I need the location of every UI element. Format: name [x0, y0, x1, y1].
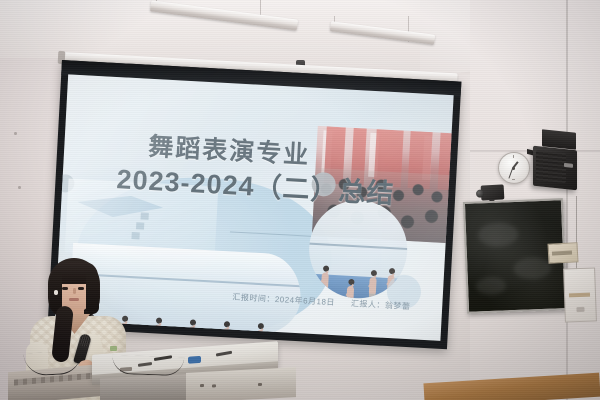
notice-box-label [552, 251, 572, 256]
wall-mark [18, 186, 21, 189]
chalk-smudge [478, 222, 519, 248]
studio-marker [136, 222, 144, 229]
wall-clock [498, 152, 530, 184]
presenter-nose [73, 288, 76, 294]
classroom-presentation-photo: 舞蹈表演专业 2023-2024（二）总结 汇报时间：2024年6月18日汇报人… [0, 0, 600, 400]
fluorescent-bar [150, 0, 298, 30]
dancer-arm [221, 326, 229, 337]
wall-seam-vertical [566, 0, 568, 400]
presenter-badge [110, 346, 117, 351]
presenter-mouth [69, 298, 79, 301]
wall-mark [14, 132, 17, 135]
wall-notice-box [547, 242, 578, 264]
presenter-earring [54, 290, 58, 295]
ballet-barre [309, 243, 407, 250]
studio-marker [140, 212, 148, 219]
speaker-badge [564, 163, 573, 168]
clock-tick [512, 179, 515, 180]
camera-lens-icon [476, 189, 484, 197]
console-indicator [200, 384, 204, 387]
ceiling-light-2 [330, 16, 445, 56]
console-indicator [212, 384, 216, 387]
slide-footer-reporter: 汇报人：翁梦蕾 [351, 299, 411, 311]
lectern-pen[interactable] [216, 351, 232, 357]
dancer-arm [187, 325, 195, 337]
clock-center-pin [512, 167, 515, 170]
console-indicator [258, 383, 262, 386]
chalk-smudge [476, 276, 507, 295]
dancer-torso [222, 328, 230, 337]
speaker-grille [536, 150, 566, 183]
ceiling-light-1 [150, 0, 310, 40]
chalk-smudge [513, 257, 552, 280]
panel-switch[interactable] [576, 307, 584, 312]
studio-marker [131, 232, 139, 239]
lectern-blue-object[interactable] [188, 356, 201, 364]
presenter-hair-right [86, 272, 99, 314]
wall-camera [481, 184, 505, 200]
presenter-eye [62, 287, 68, 290]
control-console[interactable] [186, 367, 296, 400]
dancer-arm [153, 323, 161, 335]
wall-control-panel[interactable] [563, 267, 597, 322]
clock-tick [513, 155, 514, 158]
presenter-eye [78, 287, 84, 290]
wall-speaker [533, 146, 577, 191]
panel-slot [569, 293, 590, 298]
fluorescent-bar [330, 21, 435, 45]
